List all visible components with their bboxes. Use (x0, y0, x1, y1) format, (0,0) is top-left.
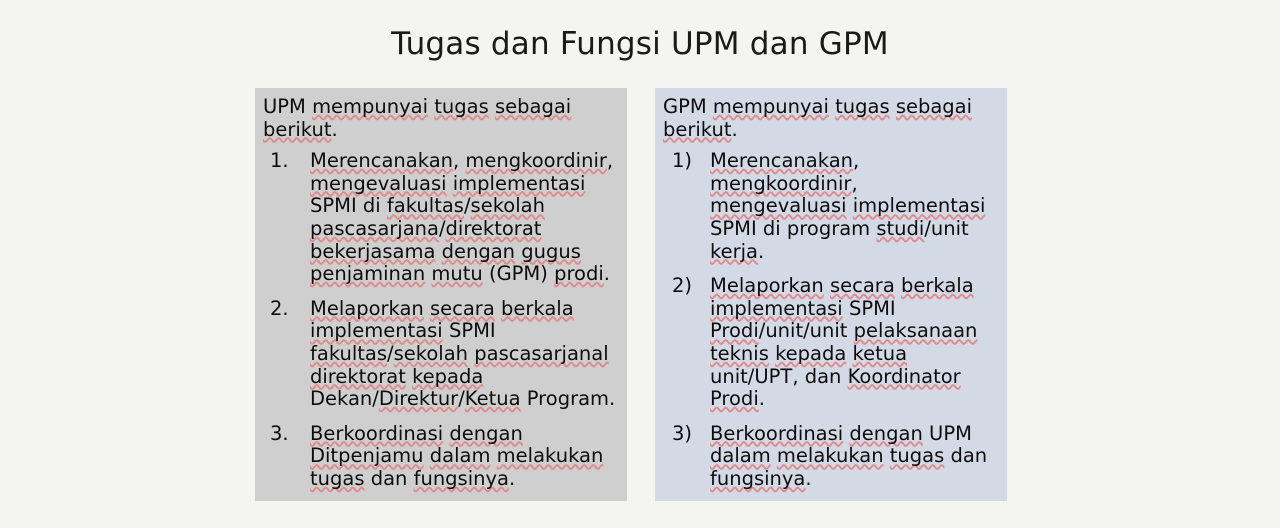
panel-gpm[interactable]: GPM mempunyai tugas sebagai berikut. 1) … (655, 88, 1007, 501)
list-item-text: Merencanakan, mengkoordinir, mengevaluas… (710, 150, 997, 263)
list-marker: 1) (672, 150, 692, 173)
list-item: 2. Melaporkan secara berkala implementas… (263, 298, 617, 411)
list-item-text: Merencanakan, mengkoordinir, mengevaluas… (310, 150, 617, 286)
panel-upm[interactable]: UPM mempunyai tugas sebagai berikut. 1. … (255, 88, 627, 501)
list-marker: 3. (270, 423, 289, 446)
list-marker: 2. (270, 298, 289, 321)
list-item-text: Melaporkan secara berkala implementasi S… (310, 298, 617, 411)
panel-gpm-list: 1) Merencanakan, mengkoordinir, mengeval… (663, 150, 997, 490)
slide-title: Tugas dan Fungsi UPM dan GPM (0, 24, 1280, 64)
list-item-text: Melaporkan secara berkala implementasi S… (710, 275, 997, 411)
list-item-text: Berkoordinasi dengan UPM dalam melakukan… (710, 423, 997, 491)
panel-gpm-intro: GPM mempunyai tugas sebagai berikut. (663, 96, 997, 141)
list-marker: 1. (270, 150, 289, 173)
panel-upm-list: 1. Merencanakan, mengkoordinir, mengeval… (263, 150, 617, 490)
slide-canvas: Tugas dan Fungsi UPM dan GPM UPM mempuny… (0, 0, 1280, 528)
list-item-text: Berkoordinasi dengan Ditpenjamu dalam me… (310, 423, 617, 491)
list-item: 3. Berkoordinasi dengan Ditpenjamu dalam… (263, 423, 617, 491)
list-item: 1) Merencanakan, mengkoordinir, mengeval… (663, 150, 997, 263)
panel-upm-intro: UPM mempunyai tugas sebagai berikut. (263, 96, 617, 141)
list-marker: 2) (672, 275, 692, 298)
list-item: 1. Merencanakan, mengkoordinir, mengeval… (263, 150, 617, 286)
list-item: 3) Berkoordinasi dengan UPM dalam melaku… (663, 423, 997, 491)
list-item: 2) Melaporkan secara berkala implementas… (663, 275, 997, 411)
list-marker: 3) (672, 423, 692, 446)
